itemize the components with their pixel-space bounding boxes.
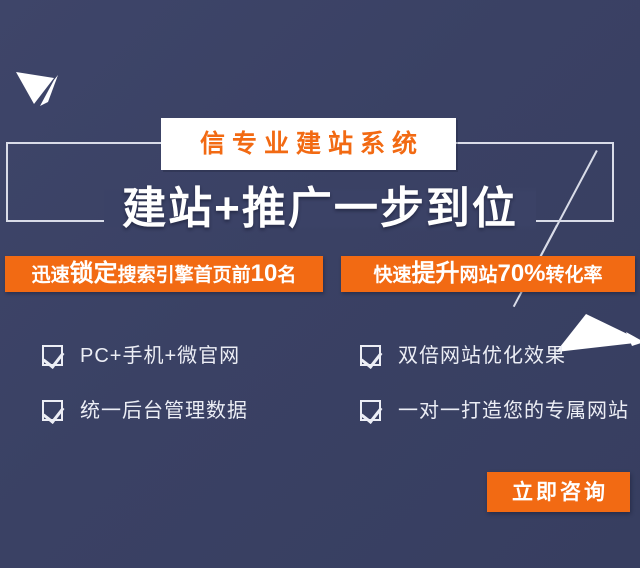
consult-now-button[interactable]: 立即咨询 <box>487 472 630 512</box>
strip-left-num: 10 <box>251 260 278 287</box>
promo-banner: 信专业建站系统 建站+推广一步到位 迅速锁定搜索引擎首页前10名 快速提升网站7… <box>0 0 640 568</box>
feature-item-2: 双倍网站优化效果 <box>318 328 640 383</box>
feature-item-2-label: 双倍网站优化效果 <box>398 346 566 366</box>
feature-item-3-label: 统一后台管理数据 <box>80 401 248 421</box>
checkbox-checked-icon <box>42 400 63 421</box>
feature-list: PC+手机+微官网 双倍网站优化效果 统一后台管理数据 一对一打造您的专属网站 <box>0 328 640 438</box>
feature-item-1-label: PC+手机+微官网 <box>80 346 240 366</box>
feature-item-4-label: 一对一打造您的专属网站 <box>398 401 629 421</box>
strip-left-emph: 锁定 <box>70 260 118 287</box>
highlight-strip-right: 快速提升网站70%转化率 <box>341 256 635 292</box>
strip-right-tail: 转化率 <box>546 265 603 286</box>
checkbox-checked-icon <box>360 400 381 421</box>
strip-left-mid: 搜索引擎首页前 <box>118 265 251 286</box>
strip-right-num: 70% <box>497 260 545 287</box>
strip-left-lead: 迅速 <box>32 265 70 286</box>
paper-plane-icon <box>14 62 78 112</box>
feature-item-1: PC+手机+微官网 <box>0 328 318 383</box>
page-title: 建站+推广一步到位 <box>104 187 536 231</box>
strip-right-emph: 提升 <box>411 260 459 287</box>
highlight-strip-left-text: 迅速锁定搜索引擎首页前10名 <box>32 262 297 286</box>
feature-item-4: 一对一打造您的专属网站 <box>318 383 640 438</box>
feature-item-3: 统一后台管理数据 <box>0 383 318 438</box>
strip-left-tail: 名 <box>277 265 296 286</box>
headline-row: 建站+推广一步到位 <box>0 178 640 240</box>
consult-now-button-label: 立即咨询 <box>509 482 608 503</box>
highlight-strip-right-text: 快速提升网站70%转化率 <box>373 262 602 286</box>
highlight-strip-left: 迅速锁定搜索引擎首页前10名 <box>5 256 323 292</box>
subtitle-plaque: 信专业建站系统 <box>161 118 456 170</box>
strip-right-lead: 快速 <box>373 265 411 286</box>
checkbox-checked-icon <box>42 345 63 366</box>
subtitle-text: 信专业建站系统 <box>193 132 424 157</box>
strip-right-mid: 网站 <box>459 265 497 286</box>
checkbox-checked-icon <box>360 345 381 366</box>
